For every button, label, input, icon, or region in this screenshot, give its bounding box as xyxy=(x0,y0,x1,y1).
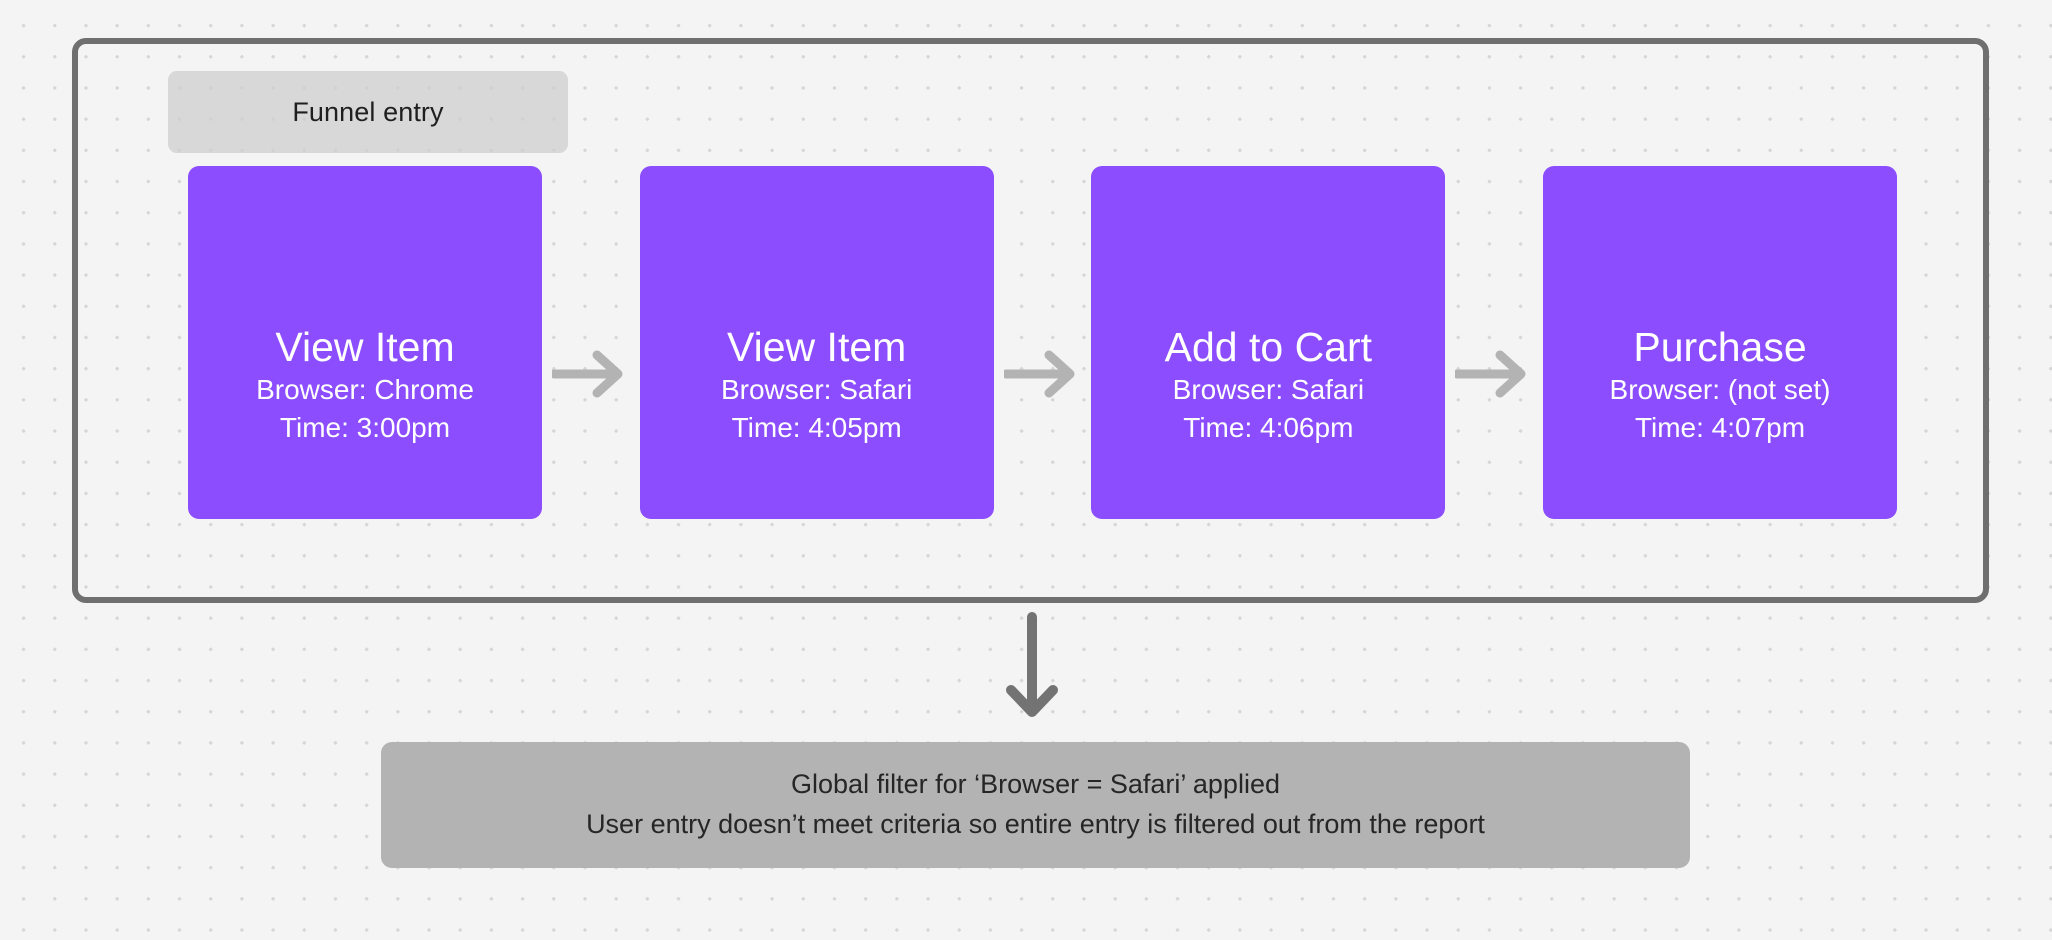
filter-note-line-2: User entry doesn’t meet criteria so enti… xyxy=(586,805,1485,845)
funnel-step-card-4[interactable]: Purchase Browser: (not set) Time: 4:07pm xyxy=(1543,166,1897,519)
funnel-entry-label: Funnel entry xyxy=(168,71,568,153)
step-arrow-right-icon-2 xyxy=(994,221,1092,526)
funnel-entry-label-text: Funnel entry xyxy=(292,97,443,128)
funnel-group-container: Funnel entry View Item Browser: Chrome T… xyxy=(72,38,1989,603)
step-title: Purchase xyxy=(1633,323,1806,371)
step-time: Time: 4:05pm xyxy=(732,409,902,447)
step-time: Time: 3:00pm xyxy=(280,409,450,447)
diagram-canvas: Funnel entry View Item Browser: Chrome T… xyxy=(0,0,2052,940)
step-time: Time: 4:06pm xyxy=(1183,409,1353,447)
funnel-steps-row: View Item Browser: Chrome Time: 3:00pm V… xyxy=(78,166,1983,526)
step-browser: Browser: Safari xyxy=(721,371,912,409)
step-arrow-right-icon-3 xyxy=(1445,221,1543,526)
funnel-step-card-1[interactable]: View Item Browser: Chrome Time: 3:00pm xyxy=(188,166,542,519)
step-title: Add to Cart xyxy=(1165,323,1372,371)
arrow-down-icon xyxy=(1004,612,1060,727)
step-title: View Item xyxy=(727,323,906,371)
filter-note-banner: Global filter for ‘Browser = Safari’ app… xyxy=(381,742,1690,868)
step-browser: Browser: Chrome xyxy=(256,371,474,409)
funnel-step-card-3[interactable]: Add to Cart Browser: Safari Time: 4:06pm xyxy=(1091,166,1445,519)
funnel-step-card-2[interactable]: View Item Browser: Safari Time: 4:05pm xyxy=(640,166,994,519)
step-title: View Item xyxy=(275,323,454,371)
filter-note-line-1: Global filter for ‘Browser = Safari’ app… xyxy=(791,765,1280,805)
step-time: Time: 4:07pm xyxy=(1635,409,1805,447)
step-arrow-right-icon-1 xyxy=(542,221,640,526)
step-browser: Browser: (not set) xyxy=(1610,371,1831,409)
step-browser: Browser: Safari xyxy=(1173,371,1364,409)
